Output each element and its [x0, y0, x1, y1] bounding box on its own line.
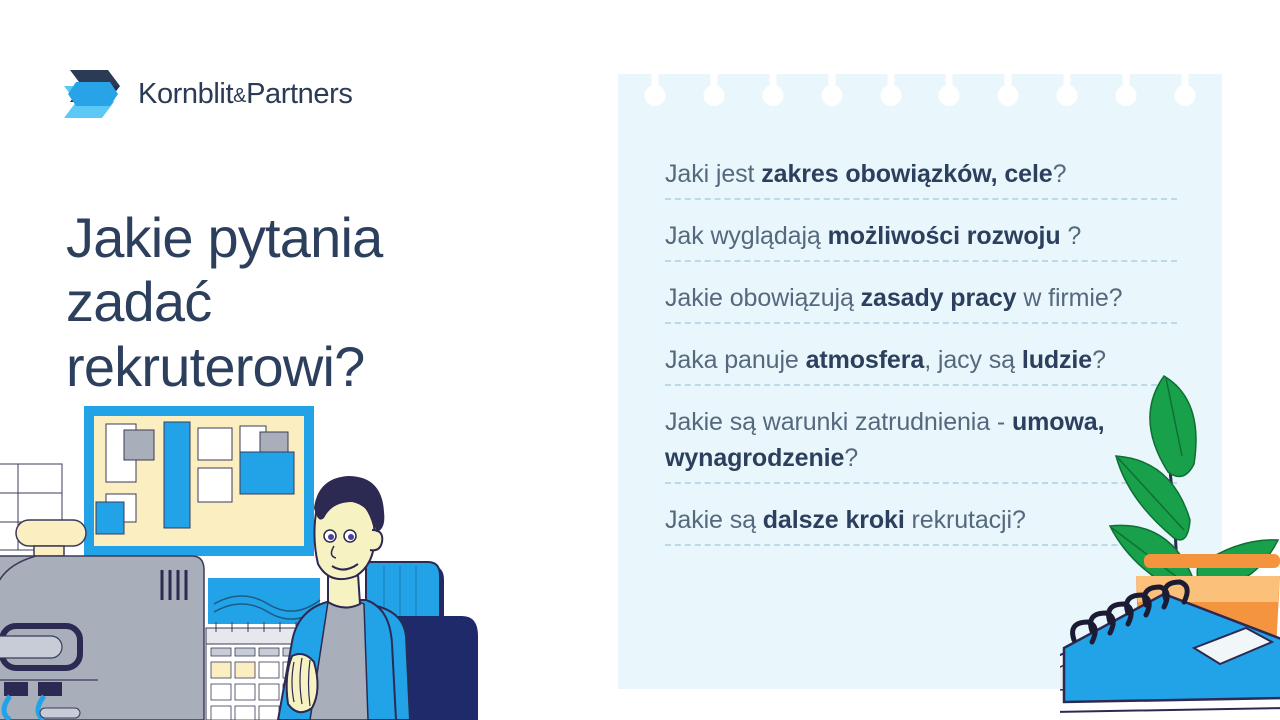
question-item: Jak wyglądają możliwości rozwoju ? [665, 216, 1177, 262]
tear-hole-icon [1056, 74, 1078, 108]
question-item: Jaki jest zakres obowiązków, cele? [665, 154, 1177, 200]
question-text: Jakie są warunki zatrudnienia - [665, 408, 1012, 436]
question-highlight: zakres obowiązków, cele [761, 160, 1052, 188]
tear-hole-icon [762, 74, 784, 108]
question-text: rekrutacji? [905, 506, 1026, 534]
tear-hole-icon [703, 74, 725, 108]
tear-hole-icon [1174, 74, 1196, 108]
headline-line-1: Jakie pytania [66, 206, 566, 271]
tear-hole-icon [644, 74, 666, 108]
office-desk-scene-icon [0, 390, 592, 720]
tear-hole-icon [938, 74, 960, 108]
page-title: Jakie pytania zadać rekruterowi? [66, 206, 566, 401]
question-highlight: dalsze kroki [763, 506, 905, 534]
question-text: , jacy są [924, 346, 1022, 374]
question-text: w firmie? [1016, 284, 1122, 312]
brand-logo[interactable]: Kornblit&Partners [62, 68, 353, 120]
kornblit-chevron-logo-icon [62, 68, 124, 120]
tear-hole-icon [997, 74, 1019, 108]
question-text: Jakie obowiązują [665, 284, 861, 312]
right-decor-group [1060, 360, 1280, 720]
question-text: Jakie są [665, 506, 763, 534]
question-text: ? [844, 444, 858, 472]
question-item: Jakie obowiązują zasady pracy w firmie? [665, 278, 1177, 324]
slide-root: Kornblit&Partners Jakie pytania zadać re… [0, 0, 1280, 720]
tear-hole-icon [880, 74, 902, 108]
bulletin-board [84, 406, 314, 556]
question-highlight: atmosfera [806, 346, 925, 374]
question-text: Jaki jest [665, 160, 761, 188]
headline-line-2: zadać [66, 270, 566, 335]
question-text: Jak wyglądają [665, 222, 828, 250]
brand-name-part2: Partners [246, 78, 352, 110]
computer-monitor-icon [0, 556, 204, 720]
question-text: ? [1053, 160, 1067, 188]
tear-hole-icon [1115, 74, 1137, 108]
question-text: Jaka panuje [665, 346, 806, 374]
note-tear-holes [618, 74, 1222, 114]
tear-hole-icon [821, 74, 843, 108]
brand-name: Kornblit&Partners [138, 78, 353, 111]
brand-ampersand: & [233, 85, 246, 107]
question-highlight: możliwości rozwoju [828, 222, 1061, 250]
question-highlight: zasady pracy [861, 284, 1017, 312]
brand-name-part1: Kornblit [138, 78, 233, 110]
question-text: ? [1061, 222, 1082, 250]
